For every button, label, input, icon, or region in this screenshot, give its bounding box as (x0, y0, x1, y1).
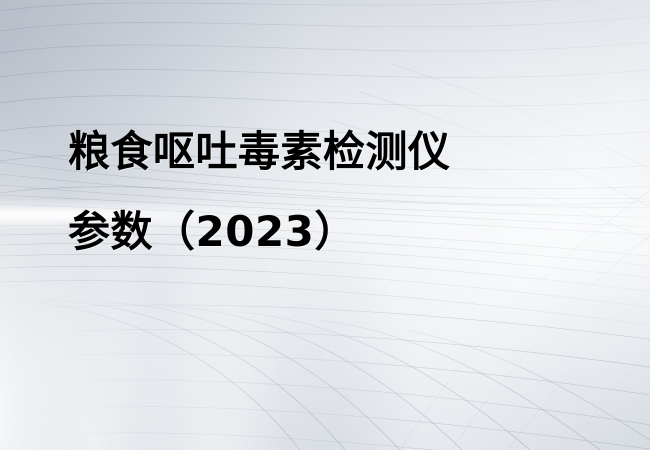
title-line-2: 参数（2023） (68, 192, 608, 272)
title-banner: 粮食呕吐毒素检测仪 参数（2023） (0, 0, 650, 450)
title-line-1: 粮食呕吐毒素检测仪 (68, 112, 608, 192)
page-title: 粮食呕吐毒素检测仪 参数（2023） (68, 112, 608, 272)
